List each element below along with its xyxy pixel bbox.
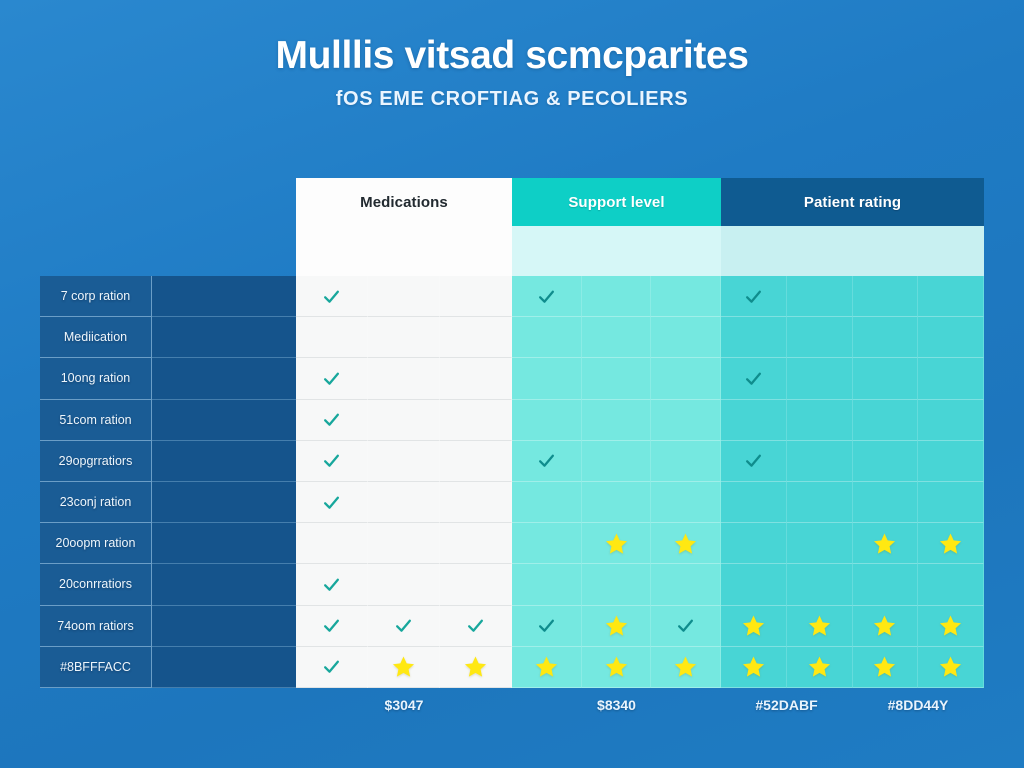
- table-row[interactable]: #8BFFFACC: [40, 647, 984, 688]
- cell-patient-rating-1[interactable]: [721, 358, 787, 399]
- cell-patient-rating-3[interactable]: [853, 400, 919, 441]
- empty-cell-marker: [475, 296, 476, 297]
- check-icon: [322, 369, 341, 388]
- cell-patient-rating-4[interactable]: [918, 647, 984, 688]
- cell-medications-3[interactable]: [440, 441, 512, 482]
- check-icon: [322, 493, 341, 512]
- star-icon: [808, 614, 831, 637]
- cell-patient-rating-2[interactable]: [787, 400, 853, 441]
- cell-group-support-level: [512, 523, 721, 564]
- empty-cell-marker: [819, 419, 820, 420]
- empty-cell-marker: [546, 584, 547, 585]
- empty-cell-marker: [546, 419, 547, 420]
- row-spacer: [152, 400, 296, 441]
- cell-patient-rating-2[interactable]: [787, 317, 853, 358]
- empty-cell-marker: [819, 502, 820, 503]
- cell-group-medications: [296, 400, 512, 441]
- subheader-medications: [296, 226, 512, 276]
- empty-cell-marker: [685, 337, 686, 338]
- cell-group-medications: [296, 441, 512, 482]
- cell-patient-rating-2[interactable]: [787, 482, 853, 523]
- star-icon: [464, 655, 487, 678]
- cell-medications-3[interactable]: [440, 523, 512, 564]
- cell-medications-2[interactable]: [368, 523, 440, 564]
- empty-cell-marker: [475, 378, 476, 379]
- cell-group-medications: [296, 523, 512, 564]
- cell-support-level-3[interactable]: [651, 564, 721, 605]
- check-icon: [676, 616, 695, 635]
- star-icon: [605, 614, 628, 637]
- cell-patient-rating-3[interactable]: [853, 358, 919, 399]
- empty-cell-marker: [546, 337, 547, 338]
- empty-cell-marker: [685, 502, 686, 503]
- cell-medications-2[interactable]: [368, 400, 440, 441]
- subheader-patient-rating: [721, 226, 984, 276]
- cell-group-support-level: [512, 317, 721, 358]
- cell-group-support-level: [512, 564, 721, 605]
- cell-patient-rating-3[interactable]: [853, 441, 919, 482]
- cell-medications-3[interactable]: [440, 482, 512, 523]
- table-row[interactable]: 51com ration: [40, 400, 984, 441]
- cell-patient-rating-1[interactable]: [721, 482, 787, 523]
- check-icon: [394, 616, 413, 635]
- empty-cell-marker: [685, 584, 686, 585]
- cell-support-level-2[interactable]: [582, 276, 652, 317]
- star-icon: [605, 655, 628, 678]
- table-subheader-band: [296, 226, 984, 276]
- row-label: 51com ration: [40, 400, 152, 441]
- cell-medications-1[interactable]: [296, 647, 368, 688]
- cell-patient-rating-4[interactable]: [918, 564, 984, 605]
- cell-group-patient-rating: [721, 400, 984, 441]
- cell-group-medications: [296, 647, 512, 688]
- cell-medications-2[interactable]: [368, 606, 440, 647]
- cell-support-level-3[interactable]: [651, 400, 721, 441]
- row-label: 10ong ration: [40, 358, 152, 399]
- cell-medications-3[interactable]: [440, 358, 512, 399]
- cell-medications-3[interactable]: [440, 564, 512, 605]
- star-icon: [674, 655, 697, 678]
- empty-cell-marker: [331, 337, 332, 338]
- table-row[interactable]: 74oom ratiors: [40, 606, 984, 647]
- check-icon: [322, 616, 341, 635]
- empty-cell-marker: [616, 378, 617, 379]
- cell-medications-1[interactable]: [296, 441, 368, 482]
- cell-medications-1[interactable]: [296, 606, 368, 647]
- cell-patient-rating-1[interactable]: [721, 647, 787, 688]
- row-spacer: [152, 606, 296, 647]
- check-icon: [466, 616, 485, 635]
- page-title: Mulllis vitsad scmcparites: [0, 36, 1024, 77]
- cell-support-level-1[interactable]: [512, 317, 582, 358]
- cell-patient-rating-3[interactable]: [853, 523, 919, 564]
- cell-patient-rating-2[interactable]: [787, 441, 853, 482]
- row-spacer: [152, 523, 296, 564]
- row-label: 74oom ratiors: [40, 606, 152, 647]
- cell-medications-2[interactable]: [368, 441, 440, 482]
- empty-cell-marker: [546, 502, 547, 503]
- cell-medications-1[interactable]: [296, 564, 368, 605]
- star-icon: [939, 614, 962, 637]
- table-row[interactable]: 29opgrratiors: [40, 441, 984, 482]
- comparison-table: Medications Support level Patient rating…: [40, 178, 984, 688]
- row-label: 23conj ration: [40, 482, 152, 523]
- cell-medications-2[interactable]: [368, 276, 440, 317]
- empty-cell-marker: [403, 419, 404, 420]
- row-spacer: [152, 564, 296, 605]
- cell-medications-1[interactable]: [296, 317, 368, 358]
- cell-support-level-2[interactable]: [582, 400, 652, 441]
- empty-cell-marker: [753, 419, 754, 420]
- row-spacer: [152, 358, 296, 399]
- cell-patient-rating-2[interactable]: [787, 606, 853, 647]
- cell-medications-2[interactable]: [368, 317, 440, 358]
- empty-cell-marker: [475, 543, 476, 544]
- empty-cell-marker: [884, 378, 885, 379]
- title-block: Mulllis vitsad scmcparites fOS EME CROFT…: [0, 36, 1024, 111]
- empty-cell-marker: [753, 337, 754, 338]
- check-icon: [744, 287, 763, 306]
- cell-patient-rating-2[interactable]: [787, 523, 853, 564]
- cell-medications-1[interactable]: [296, 482, 368, 523]
- cell-support-level-1[interactable]: [512, 523, 582, 564]
- cell-support-level-1[interactable]: [512, 606, 582, 647]
- cell-support-level-1[interactable]: [512, 358, 582, 399]
- cell-group-support-level: [512, 441, 721, 482]
- check-icon: [322, 575, 341, 594]
- row-spacer: [152, 482, 296, 523]
- cell-support-level-3[interactable]: [651, 482, 721, 523]
- cell-support-level-1[interactable]: [512, 647, 582, 688]
- empty-cell-marker: [403, 502, 404, 503]
- cell-group-medications: [296, 482, 512, 523]
- check-icon: [744, 369, 763, 388]
- empty-cell-marker: [819, 378, 820, 379]
- row-spacer: [152, 317, 296, 358]
- empty-cell-marker: [685, 460, 686, 461]
- star-icon: [939, 655, 962, 678]
- cell-group-medications: [296, 276, 512, 317]
- star-icon: [674, 532, 697, 555]
- empty-cell-marker: [403, 543, 404, 544]
- row-spacer: [152, 441, 296, 482]
- cell-group-support-level: [512, 358, 721, 399]
- cell-patient-rating-4[interactable]: [918, 441, 984, 482]
- empty-cell-marker: [819, 460, 820, 461]
- cell-group-support-level: [512, 400, 721, 441]
- star-icon: [873, 655, 896, 678]
- star-icon: [392, 655, 415, 678]
- cell-support-level-1[interactable]: [512, 482, 582, 523]
- empty-cell-marker: [753, 543, 754, 544]
- empty-cell-marker: [884, 296, 885, 297]
- table-header-row: Medications Support level Patient rating: [296, 178, 984, 226]
- row-label: 29opgrratiors: [40, 441, 152, 482]
- cell-medications-2[interactable]: [368, 564, 440, 605]
- empty-cell-marker: [403, 337, 404, 338]
- cell-patient-rating-4[interactable]: [918, 523, 984, 564]
- cell-patient-rating-1[interactable]: [721, 564, 787, 605]
- table-body: 7 corp rationMediication10ong ration51co…: [40, 276, 984, 688]
- check-icon: [322, 287, 341, 306]
- page-subtitle: fOS EME CROFTIAG & PECOLIERS: [0, 88, 1024, 111]
- empty-cell-marker: [616, 502, 617, 503]
- cell-support-level-3[interactable]: [651, 647, 721, 688]
- cell-patient-rating-1[interactable]: [721, 523, 787, 564]
- check-icon: [322, 410, 341, 429]
- table-row[interactable]: 10ong ration: [40, 358, 984, 399]
- empty-cell-marker: [475, 337, 476, 338]
- row-spacer: [152, 647, 296, 688]
- row-label: 20conrratiors: [40, 564, 152, 605]
- star-icon: [742, 655, 765, 678]
- empty-cell-marker: [819, 543, 820, 544]
- column-header-patient-rating[interactable]: Patient rating: [721, 178, 984, 226]
- cell-group-medications: [296, 358, 512, 399]
- table-row[interactable]: 20oopm ration: [40, 523, 984, 564]
- cell-medications-1[interactable]: [296, 523, 368, 564]
- footer-value-medications: $3047: [296, 692, 512, 718]
- footer-value-rating-a: #52DABF: [721, 692, 852, 718]
- cell-patient-rating-2[interactable]: [787, 358, 853, 399]
- subheader-support-level: [512, 226, 721, 276]
- cell-patient-rating-1[interactable]: [721, 441, 787, 482]
- cell-patient-rating-3[interactable]: [853, 564, 919, 605]
- cell-support-level-2[interactable]: [582, 317, 652, 358]
- check-icon: [322, 657, 341, 676]
- cell-support-level-3[interactable]: [651, 606, 721, 647]
- cell-group-patient-rating: [721, 317, 984, 358]
- cell-support-level-2[interactable]: [582, 606, 652, 647]
- cell-patient-rating-1[interactable]: [721, 276, 787, 317]
- empty-cell-marker: [950, 337, 951, 338]
- cell-medications-3[interactable]: [440, 400, 512, 441]
- cell-medications-3[interactable]: [440, 276, 512, 317]
- cell-group-patient-rating: [721, 647, 984, 688]
- table-row[interactable]: 7 corp ration: [40, 276, 984, 317]
- empty-cell-marker: [950, 296, 951, 297]
- row-label: 20oopm ration: [40, 523, 152, 564]
- empty-cell-marker: [475, 584, 476, 585]
- cell-group-patient-rating: [721, 482, 984, 523]
- empty-cell-marker: [475, 460, 476, 461]
- empty-cell-marker: [884, 419, 885, 420]
- cell-support-level-3[interactable]: [651, 276, 721, 317]
- footer-value-support: $8340: [512, 692, 721, 718]
- column-header-support-level[interactable]: Support level: [512, 178, 721, 226]
- cell-patient-rating-4[interactable]: [918, 317, 984, 358]
- cell-patient-rating-3[interactable]: [853, 317, 919, 358]
- cell-support-level-2[interactable]: [582, 482, 652, 523]
- table-row[interactable]: 20conrratiors: [40, 564, 984, 605]
- cell-group-support-level: [512, 482, 721, 523]
- empty-cell-marker: [753, 502, 754, 503]
- cell-group-medications: [296, 564, 512, 605]
- empty-cell-marker: [685, 419, 686, 420]
- empty-cell-marker: [616, 419, 617, 420]
- empty-cell-marker: [403, 460, 404, 461]
- cell-patient-rating-4[interactable]: [918, 276, 984, 317]
- cell-patient-rating-1[interactable]: [721, 317, 787, 358]
- empty-cell-marker: [616, 337, 617, 338]
- empty-cell-marker: [546, 378, 547, 379]
- cell-group-medications: [296, 317, 512, 358]
- cell-support-level-1[interactable]: [512, 276, 582, 317]
- empty-cell-marker: [950, 419, 951, 420]
- star-icon: [535, 655, 558, 678]
- footer-value-rating-b: #8DD44Y: [852, 692, 984, 718]
- cell-group-support-level: [512, 647, 721, 688]
- empty-cell-marker: [403, 378, 404, 379]
- empty-cell-marker: [331, 543, 332, 544]
- empty-cell-marker: [475, 419, 476, 420]
- cell-support-level-2[interactable]: [582, 441, 652, 482]
- check-icon: [537, 287, 556, 306]
- cell-patient-rating-1[interactable]: [721, 400, 787, 441]
- empty-cell-marker: [546, 543, 547, 544]
- cell-medications-1[interactable]: [296, 358, 368, 399]
- empty-cell-marker: [685, 378, 686, 379]
- check-icon: [744, 451, 763, 470]
- cell-support-level-2[interactable]: [582, 523, 652, 564]
- empty-cell-marker: [403, 584, 404, 585]
- star-icon: [873, 532, 896, 555]
- cell-patient-rating-2[interactable]: [787, 276, 853, 317]
- empty-cell-marker: [616, 460, 617, 461]
- cell-support-level-1[interactable]: [512, 564, 582, 605]
- cell-group-patient-rating: [721, 606, 984, 647]
- empty-cell-marker: [819, 296, 820, 297]
- cell-patient-rating-3[interactable]: [853, 606, 919, 647]
- empty-cell-marker: [475, 502, 476, 503]
- cell-medications-2[interactable]: [368, 358, 440, 399]
- cell-support-level-1[interactable]: [512, 441, 582, 482]
- cell-medications-3[interactable]: [440, 647, 512, 688]
- cell-patient-rating-3[interactable]: [853, 276, 919, 317]
- table-footer-row: $3047 $8340 #52DABF #8DD44Y: [296, 692, 984, 718]
- cell-support-level-2[interactable]: [582, 358, 652, 399]
- cell-medications-2[interactable]: [368, 647, 440, 688]
- cell-group-patient-rating: [721, 441, 984, 482]
- cell-patient-rating-4[interactable]: [918, 482, 984, 523]
- cell-patient-rating-4[interactable]: [918, 358, 984, 399]
- table-row[interactable]: Mediication: [40, 317, 984, 358]
- cell-support-level-2[interactable]: [582, 647, 652, 688]
- star-icon: [605, 532, 628, 555]
- column-header-medications[interactable]: Medications: [296, 178, 512, 226]
- cell-support-level-1[interactable]: [512, 400, 582, 441]
- cell-group-patient-rating: [721, 564, 984, 605]
- star-icon: [742, 614, 765, 637]
- cell-medications-3[interactable]: [440, 317, 512, 358]
- cell-group-patient-rating: [721, 276, 984, 317]
- cell-group-patient-rating: [721, 358, 984, 399]
- star-icon: [808, 655, 831, 678]
- empty-cell-marker: [950, 584, 951, 585]
- cell-group-patient-rating: [721, 523, 984, 564]
- cell-group-medications: [296, 606, 512, 647]
- empty-cell-marker: [753, 584, 754, 585]
- cell-support-level-3[interactable]: [651, 523, 721, 564]
- cell-patient-rating-2[interactable]: [787, 647, 853, 688]
- empty-cell-marker: [884, 337, 885, 338]
- cell-patient-rating-1[interactable]: [721, 606, 787, 647]
- row-label: 7 corp ration: [40, 276, 152, 317]
- row-label: #8BFFFACC: [40, 647, 152, 688]
- cell-medications-1[interactable]: [296, 276, 368, 317]
- star-icon: [939, 532, 962, 555]
- star-icon: [873, 614, 896, 637]
- check-icon: [537, 616, 556, 635]
- cell-group-support-level: [512, 606, 721, 647]
- empty-cell-marker: [616, 584, 617, 585]
- empty-cell-marker: [950, 502, 951, 503]
- cell-patient-rating-4[interactable]: [918, 400, 984, 441]
- table-row[interactable]: 23conj ration: [40, 482, 984, 523]
- cell-support-level-3[interactable]: [651, 358, 721, 399]
- cell-support-level-2[interactable]: [582, 564, 652, 605]
- empty-cell-marker: [884, 502, 885, 503]
- check-icon: [322, 451, 341, 470]
- check-icon: [537, 451, 556, 470]
- cell-medications-1[interactable]: [296, 400, 368, 441]
- cell-medications-2[interactable]: [368, 482, 440, 523]
- cell-support-level-3[interactable]: [651, 317, 721, 358]
- empty-cell-marker: [819, 337, 820, 338]
- cell-patient-rating-3[interactable]: [853, 482, 919, 523]
- empty-cell-marker: [403, 296, 404, 297]
- empty-cell-marker: [685, 296, 686, 297]
- row-label: Mediication: [40, 317, 152, 358]
- cell-medications-3[interactable]: [440, 606, 512, 647]
- cell-patient-rating-3[interactable]: [853, 647, 919, 688]
- empty-cell-marker: [884, 460, 885, 461]
- empty-cell-marker: [950, 460, 951, 461]
- cell-support-level-3[interactable]: [651, 441, 721, 482]
- cell-patient-rating-4[interactable]: [918, 606, 984, 647]
- empty-cell-marker: [884, 584, 885, 585]
- empty-cell-marker: [950, 378, 951, 379]
- cell-patient-rating-2[interactable]: [787, 564, 853, 605]
- empty-cell-marker: [819, 584, 820, 585]
- empty-cell-marker: [616, 296, 617, 297]
- row-spacer: [152, 276, 296, 317]
- cell-group-support-level: [512, 276, 721, 317]
